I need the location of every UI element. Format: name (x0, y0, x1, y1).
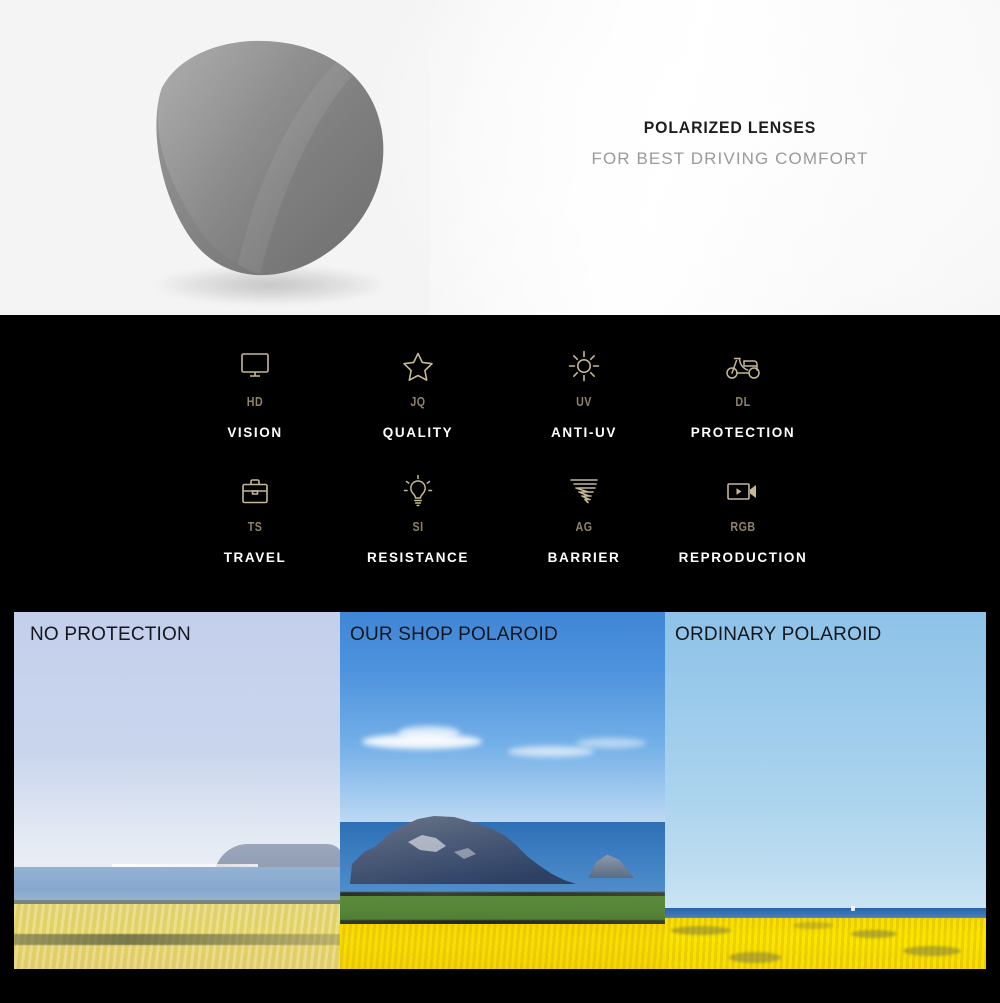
comparison-panel-no-protection: NO PROTECTION (14, 612, 340, 969)
monitor-icon (170, 345, 340, 387)
feature-code: SI (348, 519, 487, 534)
feature-reproduction: RGB REPRODUCTION (658, 470, 828, 565)
feature-label: PROTECTION (658, 425, 828, 440)
comparison-panel-our-shop-polaroid: OUR SHOP POLAROID (340, 612, 665, 969)
video-camera-icon (658, 470, 828, 512)
features-row-1: HD VISION JQ QUALITY UV ANTI-UV (0, 345, 1000, 470)
hedgerow (14, 934, 340, 945)
feature-label: BARRIER (499, 550, 669, 565)
sun-icon (499, 345, 669, 387)
scene-image (14, 612, 340, 969)
feature-label: REPRODUCTION (658, 550, 828, 565)
scrub-patch (903, 946, 961, 956)
feature-code: TS (185, 519, 324, 534)
cloud (576, 738, 646, 748)
panel-label: NO PROTECTION (30, 624, 191, 646)
feature-label: QUALITY (333, 425, 503, 440)
page-subtitle: FOR BEST DRIVING COMFORT (520, 149, 940, 169)
feature-code: HD (185, 394, 324, 409)
feature-label: TRAVEL (170, 550, 340, 565)
feature-code: RGB (673, 519, 812, 534)
sky (665, 612, 986, 912)
feature-code: UV (514, 394, 653, 409)
features-section: HD VISION JQ QUALITY UV ANTI-UV (0, 315, 1000, 612)
feature-protection: DL PROTECTION (658, 345, 828, 440)
page-title: POLARIZED LENSES (535, 118, 926, 138)
star-icon (333, 345, 503, 387)
feature-travel: TS TRAVEL (170, 470, 340, 565)
hero-text-block: POLARIZED LENSES FOR BEST DRIVING COMFOR… (520, 118, 940, 169)
feature-anti-uv: UV ANTI-UV (499, 345, 669, 440)
lightbulb-icon (333, 470, 503, 512)
feature-code: AG (514, 519, 653, 534)
cloud (508, 746, 594, 757)
comparison-panel-ordinary-polaroid: ORDINARY POLAROID (665, 612, 986, 969)
feature-label: ANTI-UV (499, 425, 669, 440)
panel-label: ORDINARY POLAROID (675, 624, 881, 646)
feature-code: DL (673, 394, 812, 409)
tornado-icon (499, 470, 669, 512)
hero-section: POLARIZED LENSES FOR BEST DRIVING COMFOR… (0, 0, 1000, 315)
scene-image (665, 612, 986, 969)
cloud (398, 726, 460, 740)
features-row-2: TS TRAVEL SI RESISTANCE AG BARRIER (0, 470, 1000, 595)
feature-label: VISION (170, 425, 340, 440)
lens-product-image (120, 28, 420, 303)
scrub-patch (671, 926, 731, 935)
volcanic-headland (350, 802, 600, 884)
scrub-patch (851, 930, 897, 938)
feature-label: RESISTANCE (333, 550, 503, 565)
feature-resistance: SI RESISTANCE (333, 470, 503, 565)
sunglass-lens-icon (120, 28, 420, 303)
briefcase-icon (170, 470, 340, 512)
rapeseed-field (340, 924, 665, 969)
feature-vision: HD VISION (170, 345, 340, 440)
panel-label: OUR SHOP POLAROID (350, 624, 558, 646)
scrub-patch (729, 952, 781, 963)
comparison-strip: NO PROTECTION (14, 612, 986, 969)
feature-code: JQ (348, 394, 487, 409)
distant-sail (851, 906, 855, 911)
scooter-icon (658, 345, 828, 387)
scene-image (340, 612, 665, 969)
feature-quality: JQ QUALITY (333, 345, 503, 440)
feature-barrier: AG BARRIER (499, 470, 669, 565)
